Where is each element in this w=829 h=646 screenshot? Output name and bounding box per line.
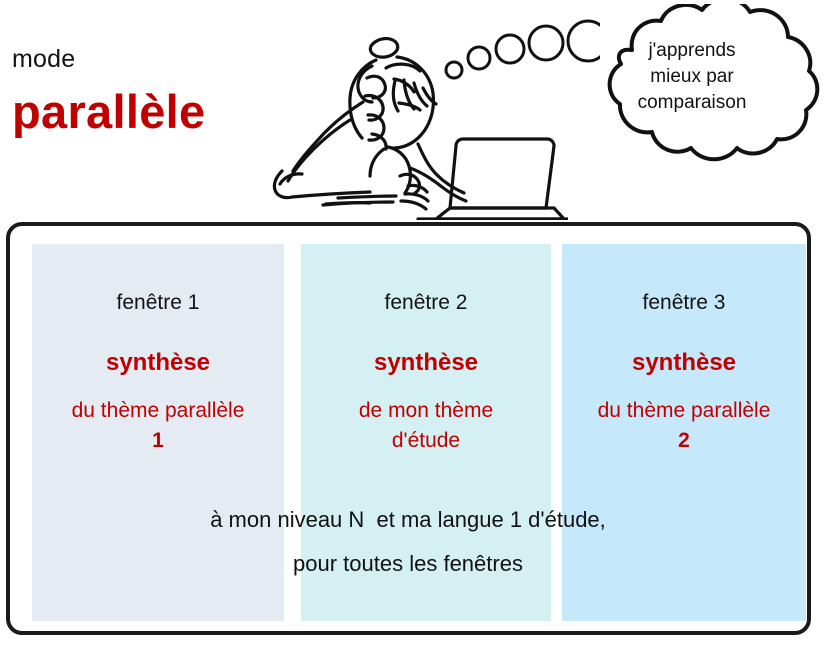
panel-1-heading: synthèse [32,348,284,378]
panel-fenetre-3[interactable]: fenêtre 3 synthèse du thème parallèle 2 [562,244,806,621]
panel-2-window-label: fenêtre 2 [301,290,551,316]
panel-3-heading: synthèse [562,348,806,378]
panel-3-subtitle: du thème parallèle 2 [562,396,806,456]
panel-1-sub-line-2: 1 [32,426,284,456]
panel-3-window-label: fenêtre 3 [562,290,806,316]
panel-1-window-label: fenêtre 1 [32,290,284,316]
panel-1-sub-line-1: du thème parallèle [32,396,284,426]
thought-bubble-text: j'apprends mieux par comparaison [596,38,788,116]
panel-3-sub-line-2: 2 [562,426,806,456]
header-area: mode parallèle [0,0,829,220]
panel-2-sub-line-1: de mon thème [301,396,551,426]
panels-container: fenêtre 1 synthèse du thème parallèle 1 … [10,226,807,631]
panel-2-sub-line-2: d'étude [301,426,551,456]
mode-label: mode [12,44,75,74]
thought-line-1: j'apprends [596,38,788,64]
thought-line-2: mieux par [596,64,788,90]
panel-2-subtitle: de mon thème d'étude [301,396,551,456]
panel-3-sub-line-1: du thème parallèle [562,396,806,426]
panel-2-heading: synthèse [301,348,551,378]
panel-1-subtitle: du thème parallèle 1 [32,396,284,456]
mode-title: parallèle [12,84,205,140]
thought-line-3: comparaison [596,90,788,116]
panel-fenetre-2[interactable]: fenêtre 2 synthèse de mon thème d'étude [301,244,551,621]
panel-fenetre-1[interactable]: fenêtre 1 synthèse du thème parallèle 1 [32,244,284,621]
windows-frame: fenêtre 1 synthèse du thème parallèle 1 … [6,222,811,635]
